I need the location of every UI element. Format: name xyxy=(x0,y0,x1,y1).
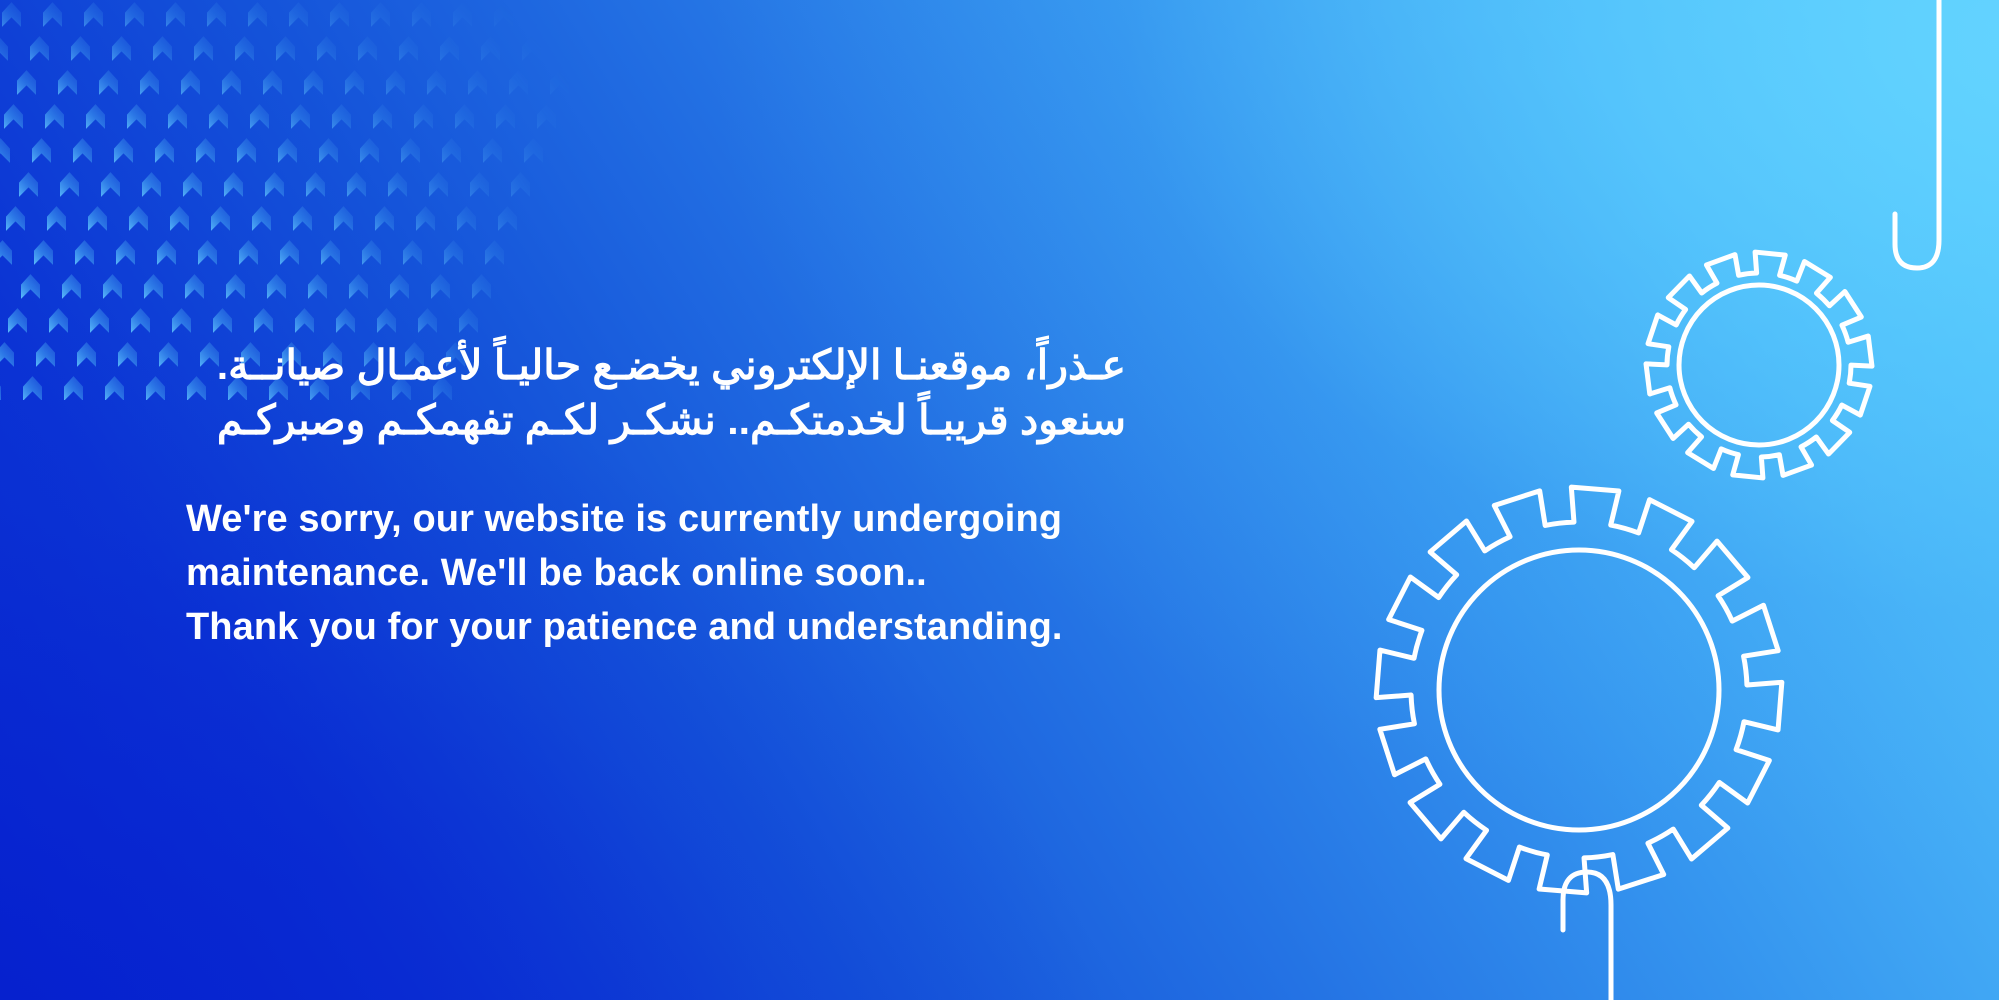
english-message: We're sorry, our website is currently un… xyxy=(186,493,1146,655)
arabic-line-2: سنعود قريبـاً لخدمتكـم.. نشكـر لكـم تفهم… xyxy=(186,393,1126,448)
english-line-1: We're sorry, our website is currently un… xyxy=(186,493,1146,547)
maintenance-page: عـذراً، موقعنـا الإلكتروني يخضـع حاليـاً… xyxy=(0,0,1999,1000)
message-block: عـذراً، موقعنـا الإلكتروني يخضـع حاليـاً… xyxy=(186,338,1146,655)
english-line-2: maintenance. We'll be back online soon.. xyxy=(186,547,1146,601)
arabic-line-1: عـذراً، موقعنـا الإلكتروني يخضـع حاليـاً… xyxy=(186,338,1126,393)
arabic-message: عـذراً، موقعنـا الإلكتروني يخضـع حاليـاً… xyxy=(186,338,1126,447)
english-line-3: Thank you for your patience and understa… xyxy=(186,601,1146,655)
